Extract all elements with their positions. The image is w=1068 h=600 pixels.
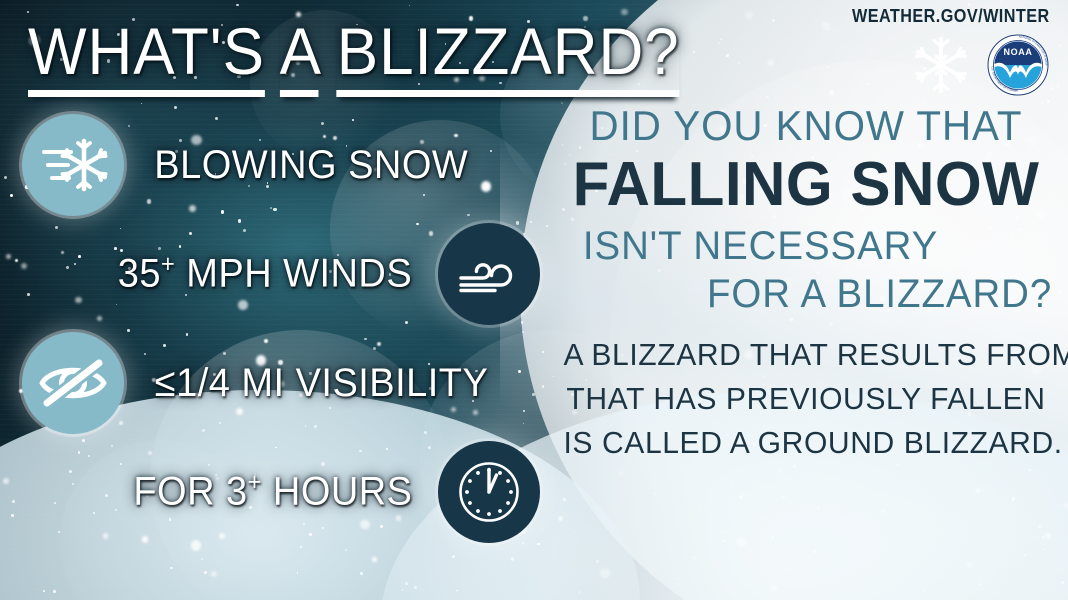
clock-icon [438, 441, 540, 543]
fact-visibility: ≤1/4 MI VISIBILITY [0, 330, 560, 435]
fact-wind-speed: 35+ MPH WINDS [0, 221, 560, 326]
fact-label: 35+ MPH WINDS [118, 253, 412, 293]
fact-suffix: + [161, 251, 175, 278]
blizzard-criteria-list: BLOWING SNOW 35+ MPH WINDS [0, 112, 560, 548]
svg-text:NOAA: NOAA [1004, 47, 1033, 57]
did-you-know-panel: DID YOU KNOW THAT FALLING SNOW ISN'T NEC… [556, 104, 1056, 465]
brand-block: WEATHER.GOV/WINTER [830, 6, 1050, 102]
fact-value: 35 [118, 252, 161, 296]
fact-label: BLOWING SNOW [154, 145, 468, 185]
blizzard-infographic: WHAT'S A BLIZZARD? WEATHER.GOV/WINTER [0, 0, 1068, 600]
wind-icon [438, 223, 540, 325]
fact-label-tail: HOURS [262, 470, 413, 514]
weather-gov-url[interactable]: WEATHER.GOV/WINTER [852, 6, 1050, 27]
title-word-blizzard: BLIZZARD? [337, 14, 680, 97]
blowing-snow-icon [22, 114, 124, 216]
panel-body: A BLIZZARD THAT RESULTS FROM SNOW THAT H… [556, 333, 1056, 465]
page-title: WHAT'S A BLIZZARD? [28, 18, 680, 84]
body-line: THAT HAS PREVIOUSLY FALLEN [564, 377, 1049, 421]
fact-label: FOR 3+ HOURS [133, 471, 412, 511]
noaa-seal[interactable]: NOAA NATIONAL OCEANIC AND ATMOSPHERIC U.… [986, 33, 1050, 102]
fact-blowing-snow: BLOWING SNOW [0, 112, 560, 217]
panel-kicker: DID YOU KNOW THAT [566, 104, 1046, 148]
fact-label: ≤1/4 MI VISIBILITY [155, 363, 489, 403]
panel-headline: FALLING SNOW [564, 152, 1049, 218]
body-line: A BLIZZARD THAT RESULTS FROM SNOW [564, 333, 1049, 377]
panel-subline-right: FOR A BLIZZARD? [576, 273, 1056, 315]
fact-duration: FOR 3+ HOURS [0, 439, 560, 544]
brand-marks: NOAA NATIONAL OCEANIC AND ATMOSPHERIC U.… [830, 33, 1050, 102]
fact-label-tail: MPH WINDS [175, 252, 412, 296]
fact-value: FOR 3 [133, 470, 247, 514]
panel-subline-left: ISN'T NECESSARY [556, 225, 1036, 267]
title-word-a: A [280, 14, 319, 97]
fact-suffix: + [248, 469, 262, 496]
no-visibility-eye-icon [22, 332, 124, 434]
body-line: IS CALLED A GROUND BLIZZARD. [564, 421, 1049, 465]
snowflake-icon [910, 34, 972, 101]
title-word-whats: WHAT'S [28, 14, 265, 97]
